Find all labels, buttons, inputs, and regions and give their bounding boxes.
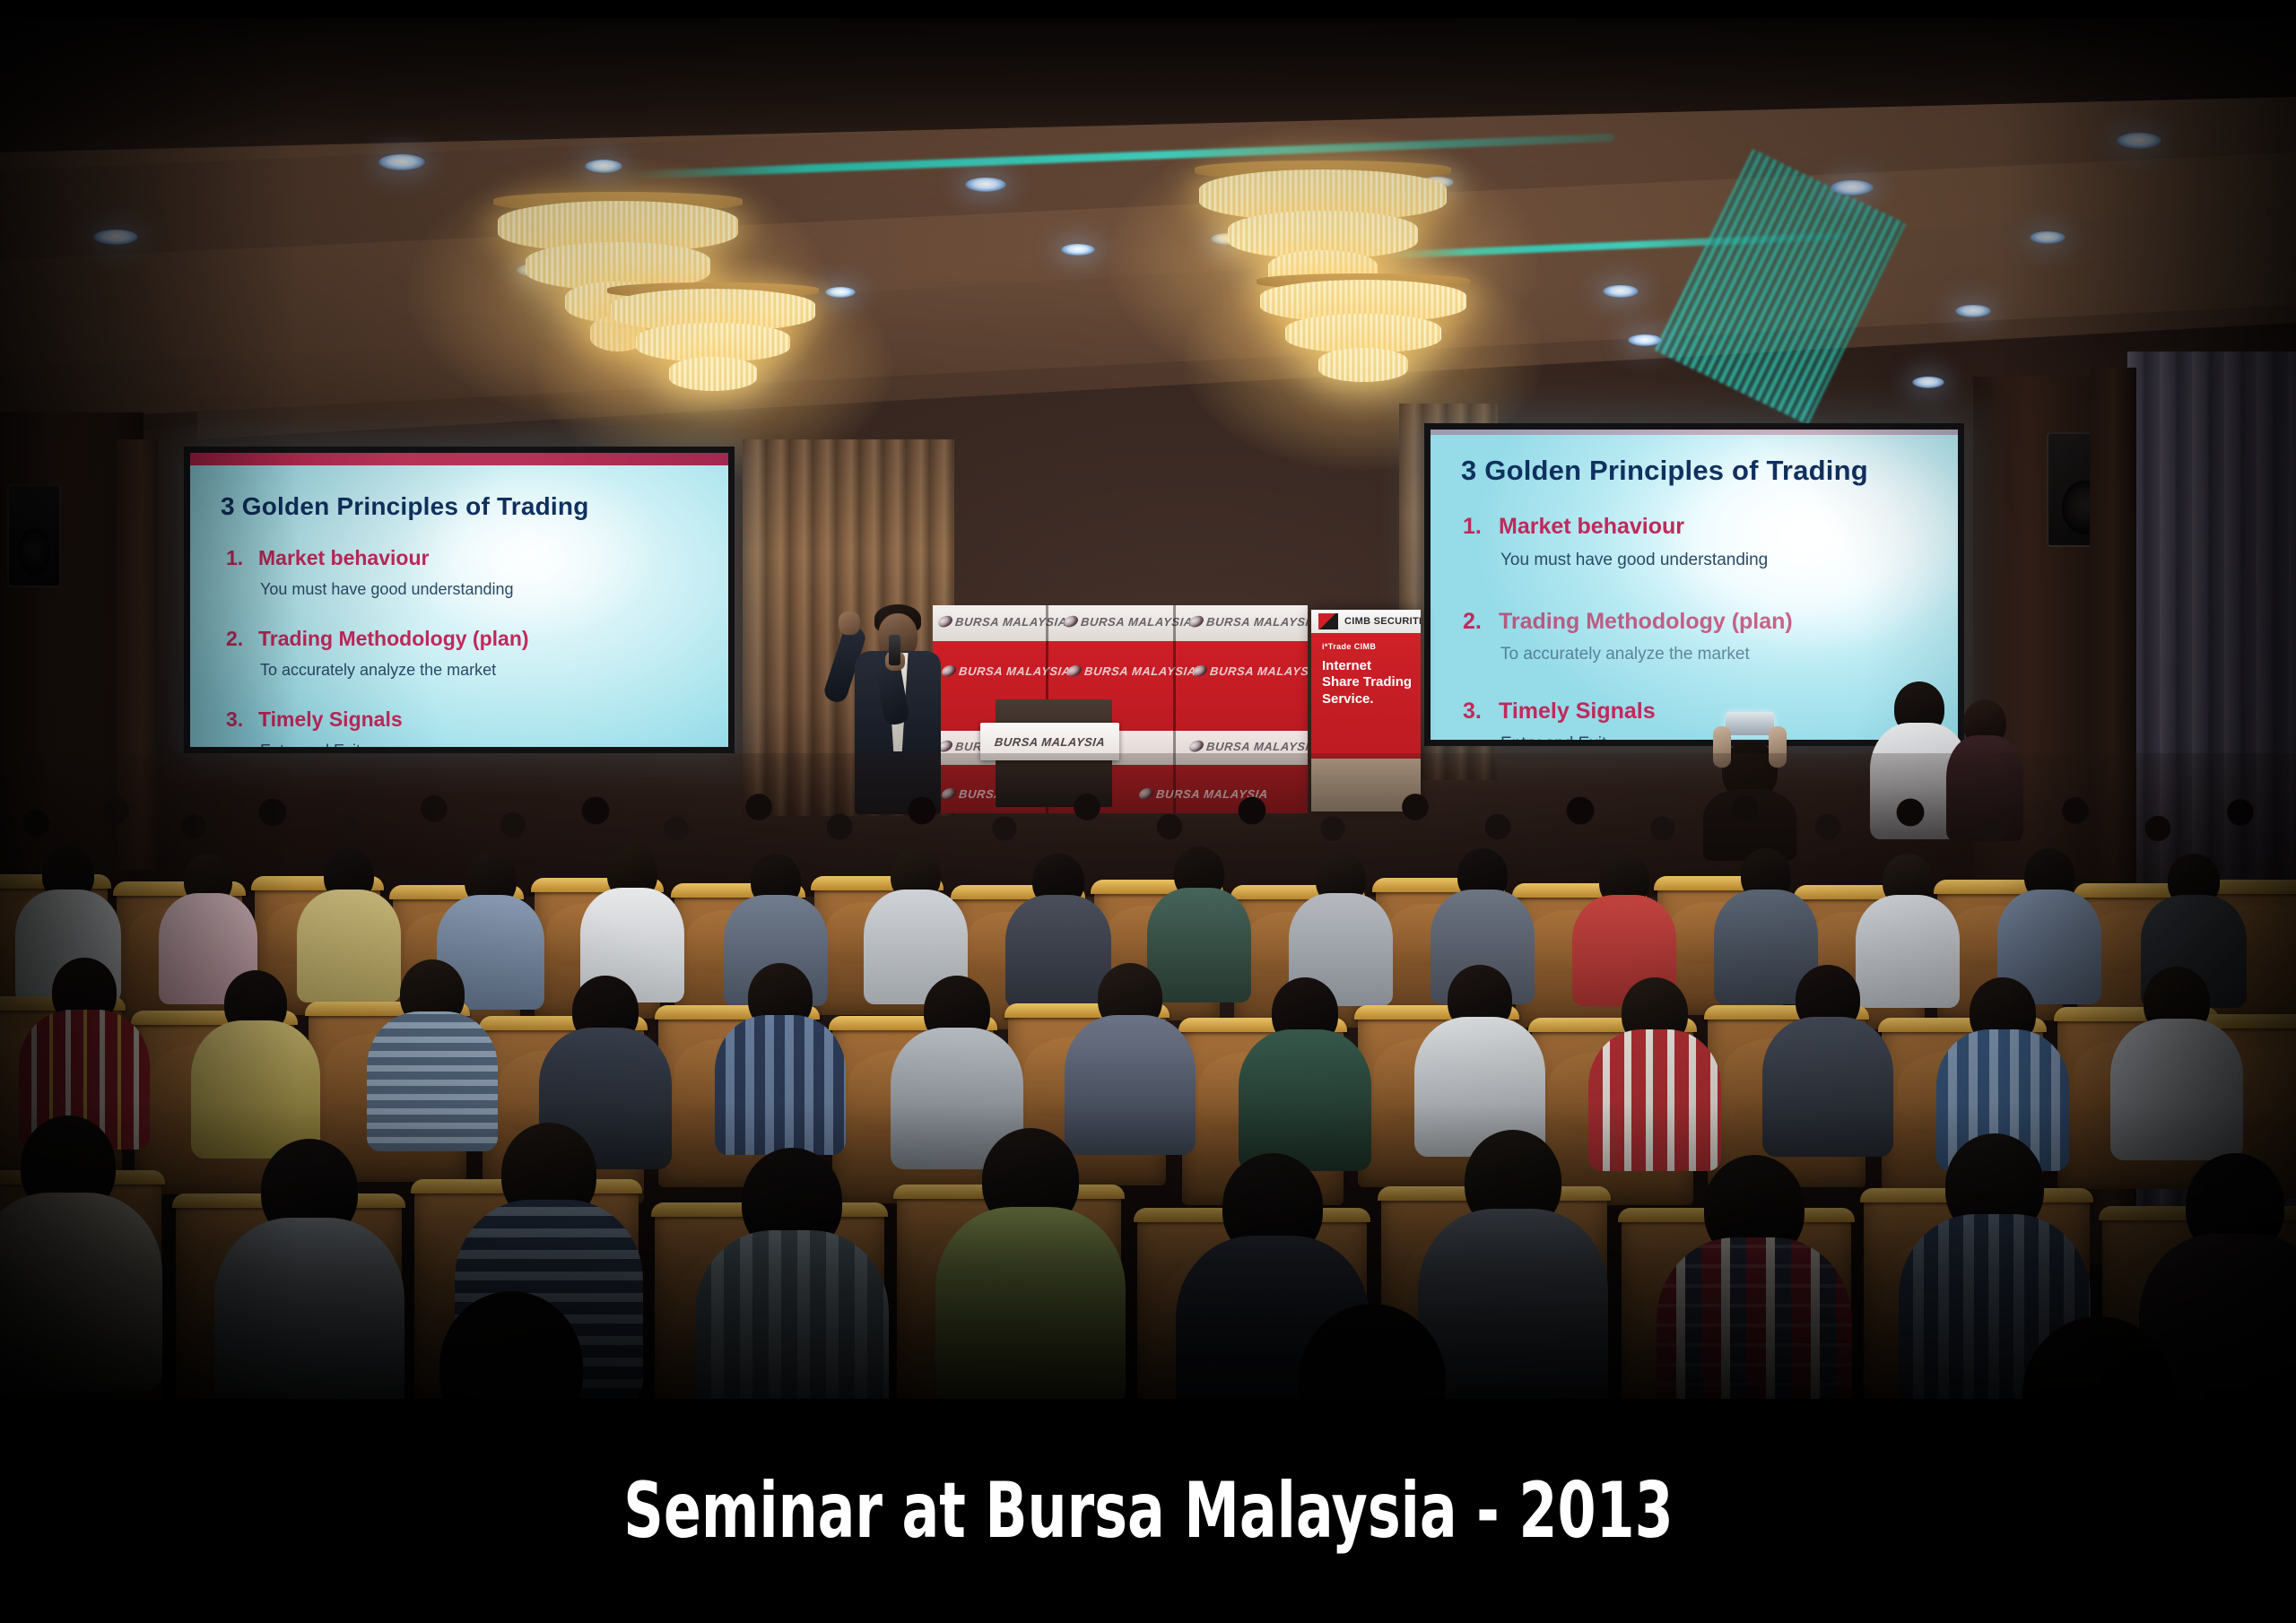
downlight-icon: [2030, 231, 2066, 244]
attendee-front-row: [694, 1148, 890, 1399]
slide-item-2-sub: To accurately analyze the market: [260, 661, 496, 680]
downlight-icon: [378, 154, 425, 170]
audience: [0, 753, 2296, 1399]
cimb-kicker: i*Trade CIMB: [1322, 642, 1410, 651]
downlight-icon: [1912, 377, 1944, 388]
attendee-front-row: [1656, 1155, 1853, 1399]
attendee: [1064, 963, 1196, 1153]
backdrop-logo: BURSA MALAYSIA: [1066, 664, 1196, 678]
attendee-torso: [0, 1193, 162, 1392]
slide-item-1-heading: Market behaviour: [1499, 514, 1684, 540]
caption-text: Seminar at Bursa Malaysia - 2013: [623, 1466, 1673, 1556]
slide-top-stripe: [1431, 430, 1958, 435]
attendee-torso: [191, 1020, 320, 1159]
microphone-icon: [889, 635, 900, 665]
podium-plate-text: BURSA MALAYSIA: [994, 735, 1106, 749]
downlight-icon: [1603, 285, 1639, 298]
slide-title: 3 Golden Principles of Trading: [221, 492, 589, 521]
attendee-front-row: [935, 1128, 1126, 1399]
slide-item-3-heading: Timely Signals: [1499, 699, 1656, 725]
slide-item-3-number: 3.: [1463, 699, 1482, 725]
cimb-line-2: Share Trading: [1322, 674, 1410, 690]
attendee: [1761, 965, 1894, 1155]
top-letterbox: [0, 0, 2296, 18]
attendee-head: [1299, 1304, 1446, 1399]
slide-item-1-sub: You must have good understanding: [1500, 551, 1768, 570]
cimb-line-3: Service.: [1322, 691, 1410, 707]
photo-with-caption: 3 Golden Principles of Trading 1. Market…: [0, 0, 2296, 1623]
attendee: [714, 963, 847, 1153]
downlight-icon: [1628, 334, 1662, 346]
left-projection-screen: 3 Golden Principles of Trading 1. Market…: [184, 447, 735, 753]
pa-speaker-left: [7, 484, 61, 587]
cimb-logo-icon: [1318, 613, 1338, 629]
attendee-foreground: [1955, 1316, 2242, 1399]
backdrop-brand-text: BURSA MALAYSIA: [1205, 740, 1308, 753]
downlight-icon: [1831, 180, 1874, 195]
backdrop-logo: BURSA MALAYSIA: [1192, 664, 1308, 678]
backdrop-brand-text: BURSA MALAYSIA: [1205, 615, 1308, 629]
slide-item-1-sub: You must have good understanding: [260, 580, 514, 599]
caption-bar: Seminar at Bursa Malaysia - 2013: [0, 1399, 2296, 1623]
slide-title: 3 Golden Principles of Trading: [1461, 455, 1868, 487]
slide-item-3-sub: Entry and Exit: [1500, 734, 1606, 740]
downlight-icon: [2117, 133, 2161, 149]
backdrop-brand-text: BURSA MALAYSIA: [1083, 664, 1196, 678]
presenter-raised-hand: [839, 612, 860, 635]
slide-item-2-heading: Trading Methodology (plan): [1499, 609, 1793, 635]
slide-item-2-number: 2.: [226, 627, 243, 651]
slide-item-2-sub: To accurately analyze the market: [1500, 645, 1750, 664]
slide-item-3-sub: Entry and Exit: [260, 742, 361, 747]
attendee-torso: [2110, 1019, 2243, 1160]
attendee-torso: [1657, 1237, 1852, 1399]
attendee-head: [439, 1291, 583, 1399]
slide-item-3-heading: Timely Signals: [258, 707, 403, 732]
attendee-torso: [695, 1230, 889, 1399]
downlight-icon: [1061, 244, 1095, 256]
downlight-icon: [1955, 305, 1991, 317]
backdrop-logo: BURSA MALAYSIA: [1188, 615, 1308, 629]
downlight-icon: [585, 160, 622, 173]
seminar-photo: 3 Golden Principles of Trading 1. Market…: [0, 18, 2296, 1399]
backdrop-logo: BURSA MALAYSIA: [1188, 740, 1308, 753]
slide-item-1-heading: Market behaviour: [258, 546, 429, 570]
attendee-foreground: [377, 1291, 646, 1399]
left-slide: 3 Golden Principles of Trading 1. Market…: [190, 453, 728, 747]
attendee: [1238, 977, 1372, 1167]
cimb-header-text: CIMB SECURITIES: [1344, 616, 1421, 627]
cimb-banner-header: CIMB SECURITIES: [1311, 610, 1421, 633]
attendee-front-row: [0, 1115, 163, 1384]
backdrop-brand-text: BURSA MALAYSIA: [954, 615, 1067, 629]
attendee: [190, 970, 321, 1157]
slide-item-1-number: 1.: [1463, 514, 1482, 540]
downlight-icon: [965, 178, 1006, 192]
slide-item-1-number: 1.: [226, 546, 243, 570]
attendee-torso: [935, 1207, 1126, 1399]
attendee: [2109, 967, 2244, 1157]
backdrop-brand-text: BURSA MALAYSIA: [1080, 615, 1193, 629]
cimb-line-1: Internet: [1322, 658, 1410, 674]
slide-top-stripe: [190, 453, 728, 465]
attendee: [1413, 965, 1546, 1155]
attendee-foreground: [1238, 1304, 1507, 1399]
downlight-icon: [93, 230, 138, 245]
slide-item-2-number: 2.: [1463, 609, 1482, 635]
chandelier-left-2: [583, 287, 843, 448]
attendee-torso: [1239, 1029, 1371, 1171]
attendee: [366, 959, 499, 1150]
attendee-torso: [1762, 1017, 1893, 1157]
attendee-torso: [715, 1015, 846, 1155]
backdrop-brand-text: BURSA MALAYSIA: [1209, 664, 1308, 678]
attendee-head: [2022, 1316, 2175, 1399]
cimb-banner-body: i*Trade CIMB Internet Share Trading Serv…: [1311, 633, 1421, 759]
smartphone-icon: [1726, 712, 1774, 735]
backdrop-brand-text: BURSA MALAYSIA: [958, 664, 1071, 678]
slide-item-2-heading: Trading Methodology (plan): [258, 627, 529, 651]
slide-item-3-number: 3.: [226, 707, 243, 732]
